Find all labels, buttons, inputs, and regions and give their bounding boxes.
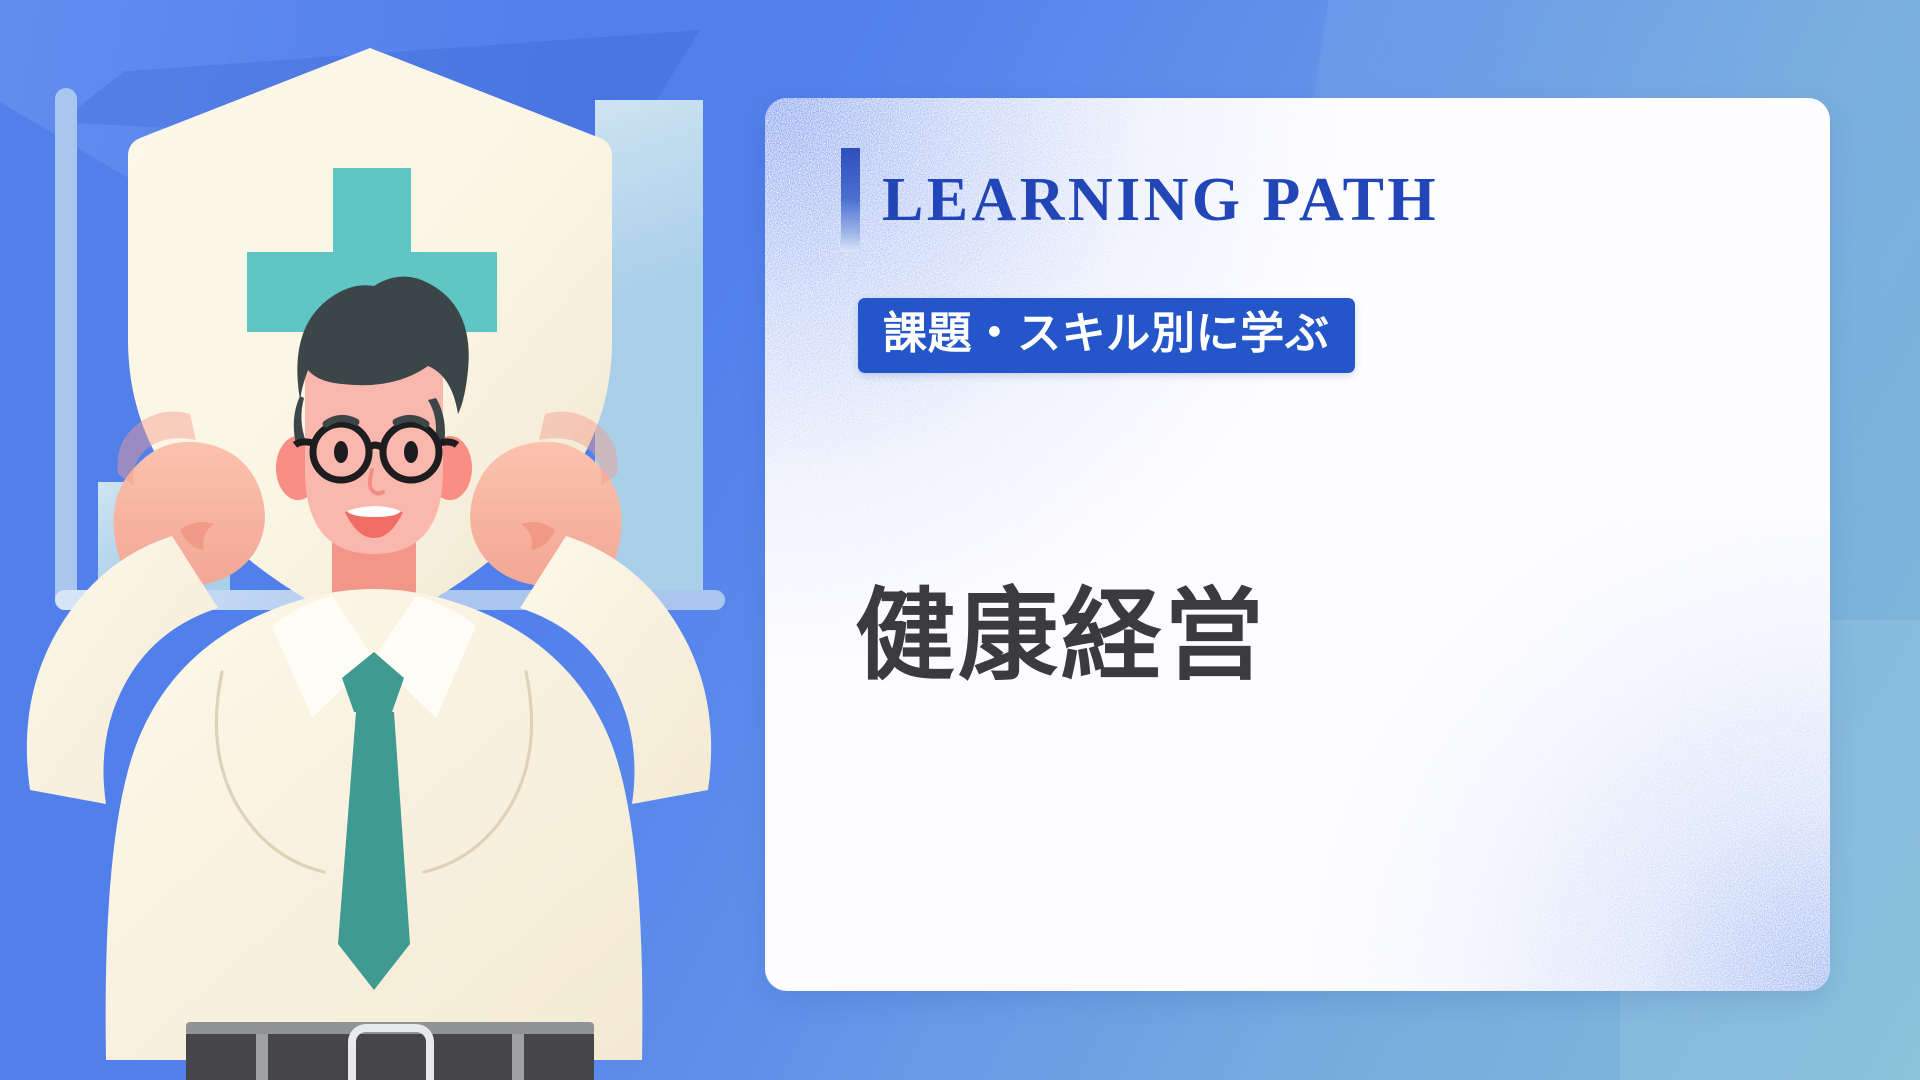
character-eye-right bbox=[404, 441, 418, 463]
category-badge[interactable]: 課題・スキル別に学ぶ bbox=[858, 298, 1355, 373]
illustration-figure bbox=[0, 0, 780, 1080]
eyebrow-label: LEARNING PATH bbox=[882, 146, 1439, 254]
page-title: 健康経営 bbox=[855, 578, 1267, 693]
character-belt bbox=[186, 1022, 594, 1080]
card-grain-bottom-right bbox=[1270, 521, 1830, 991]
content-card: LEARNING PATH 課題・スキル別に学ぶ 健康経営 bbox=[765, 98, 1830, 991]
accent-bar bbox=[841, 148, 860, 252]
character-eye-left bbox=[334, 441, 348, 463]
